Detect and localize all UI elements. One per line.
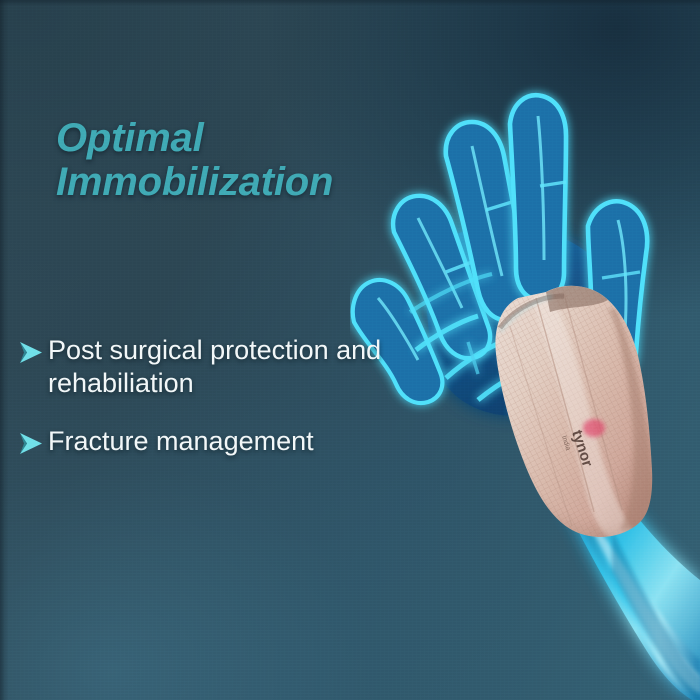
background-edge-top — [0, 0, 700, 6]
list-item: Post surgical protection and rehabiliati… — [18, 334, 470, 399]
arrow-bullet-icon — [18, 338, 44, 368]
feature-bullet-list: Post surgical protection and rehabiliati… — [18, 334, 470, 484]
list-item: Fracture management — [18, 425, 470, 458]
background-edge-left — [0, 0, 9, 700]
arrow-bullet-icon — [18, 429, 44, 459]
list-item-label: Fracture management — [44, 425, 314, 458]
promo-slide: tynor India Optimal Immobilization Post … — [0, 0, 700, 700]
page-title: Optimal Immobilization — [56, 116, 476, 204]
list-item-label: Post surgical protection and rehabiliati… — [44, 334, 470, 399]
